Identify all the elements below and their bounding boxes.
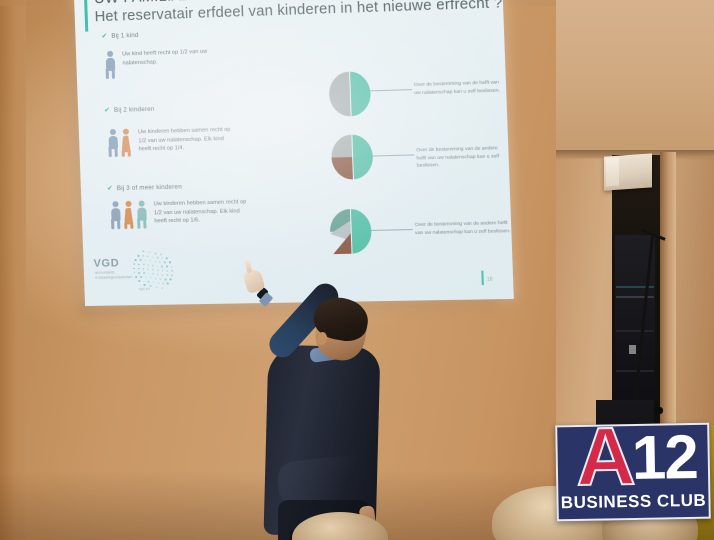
slide-block-3-heading: ✔ Bij 3 of meer kinderen [107,184,182,193]
callout-text-1: Over de bestemming van de helft van uw n… [414,79,507,97]
people-icon-group-1 [104,51,116,79]
block-1-text: Uw kind heeft recht op 1/2 van uw nalate… [122,47,220,67]
person-icon-male [104,51,116,79]
slide-block-2-body: Uw kinderen hebben samen recht op 1/2 va… [107,126,236,158]
block-2-text: Uw kinderen hebben samen recht op 1/2 va… [138,126,236,155]
callout-text-2: Over de bestemming van de andere helft v… [416,145,509,171]
slide-page-number: 18 [487,277,493,283]
person-icon-female [120,129,132,157]
slide-block-1-heading: ✔ Bij 1 kind [101,32,138,40]
presenter-speaker [238,268,408,540]
person-icon-female [122,201,134,229]
slide-block-2-heading: ✔ Bij 2 kinderen [104,106,155,114]
a12-subtitle: BUSINESS CLUB [558,491,708,514]
vgd-globe-icon [131,248,175,291]
block-3-text: Uw kinderen hebben samen recht op 1/2 va… [154,198,252,226]
wall-left-edge [0,0,26,540]
screenshot-stage: UW FAMILIALE PLANNING ANNO 2018 Het rese… [0,0,714,540]
leader-line-1 [370,89,412,91]
slide-block-3-body: Uw kinderen hebben samen recht op 1/2 va… [109,198,252,229]
pie-chart-3-children [329,209,372,255]
slide-footer-accent [481,271,484,285]
rack-panel-line [616,296,654,298]
vgd-wordmark: VGD [93,257,119,270]
pie-chart-2-children [331,134,374,180]
block-1-label: Bij 1 kind [111,32,138,40]
vgd-logo: VGD accountants & belastingconsulenten v… [91,246,189,294]
pie-chart-1-child [328,71,371,117]
vgd-tagline-2: & belastingconsulenten [95,275,132,281]
checkmark-icon: ✔ [107,185,113,192]
checkmark-icon: ✔ [104,107,110,114]
callout-text-3: Over de bestemming van de andere helft v… [415,220,512,238]
person-icon-male [109,201,121,229]
vgd-caption: vgd.eu [139,287,151,291]
rack-panel-line [616,330,654,332]
block-2-label: Bij 2 kinderen [114,106,155,114]
people-icon-group-2 [107,129,132,158]
projected-slide: UW FAMILIALE PLANNING ANNO 2018 Het rese… [74,0,514,306]
wall-speaker-grille [606,158,619,187]
a12-business-club-logo: A 12 BUSINESS CLUB [555,423,711,522]
soffit [556,0,714,158]
person-icon-male [107,129,119,157]
checkmark-icon: ✔ [101,33,107,40]
slide-title-accent-bar [84,0,88,32]
leader-line-3 [371,229,413,231]
people-icon-group-3 [109,200,147,229]
slide-block-1-body: Uw kind heeft recht op 1/2 van uw nalate… [104,47,220,79]
a12-number: 12 [631,427,697,490]
leader-line-2 [373,154,415,156]
door-jamb [660,152,676,434]
rack-indicator [629,345,636,354]
block-3-label: Bij 3 of meer kinderen [117,184,182,193]
rack-panel-line [616,370,654,372]
person-icon-male [135,200,147,228]
